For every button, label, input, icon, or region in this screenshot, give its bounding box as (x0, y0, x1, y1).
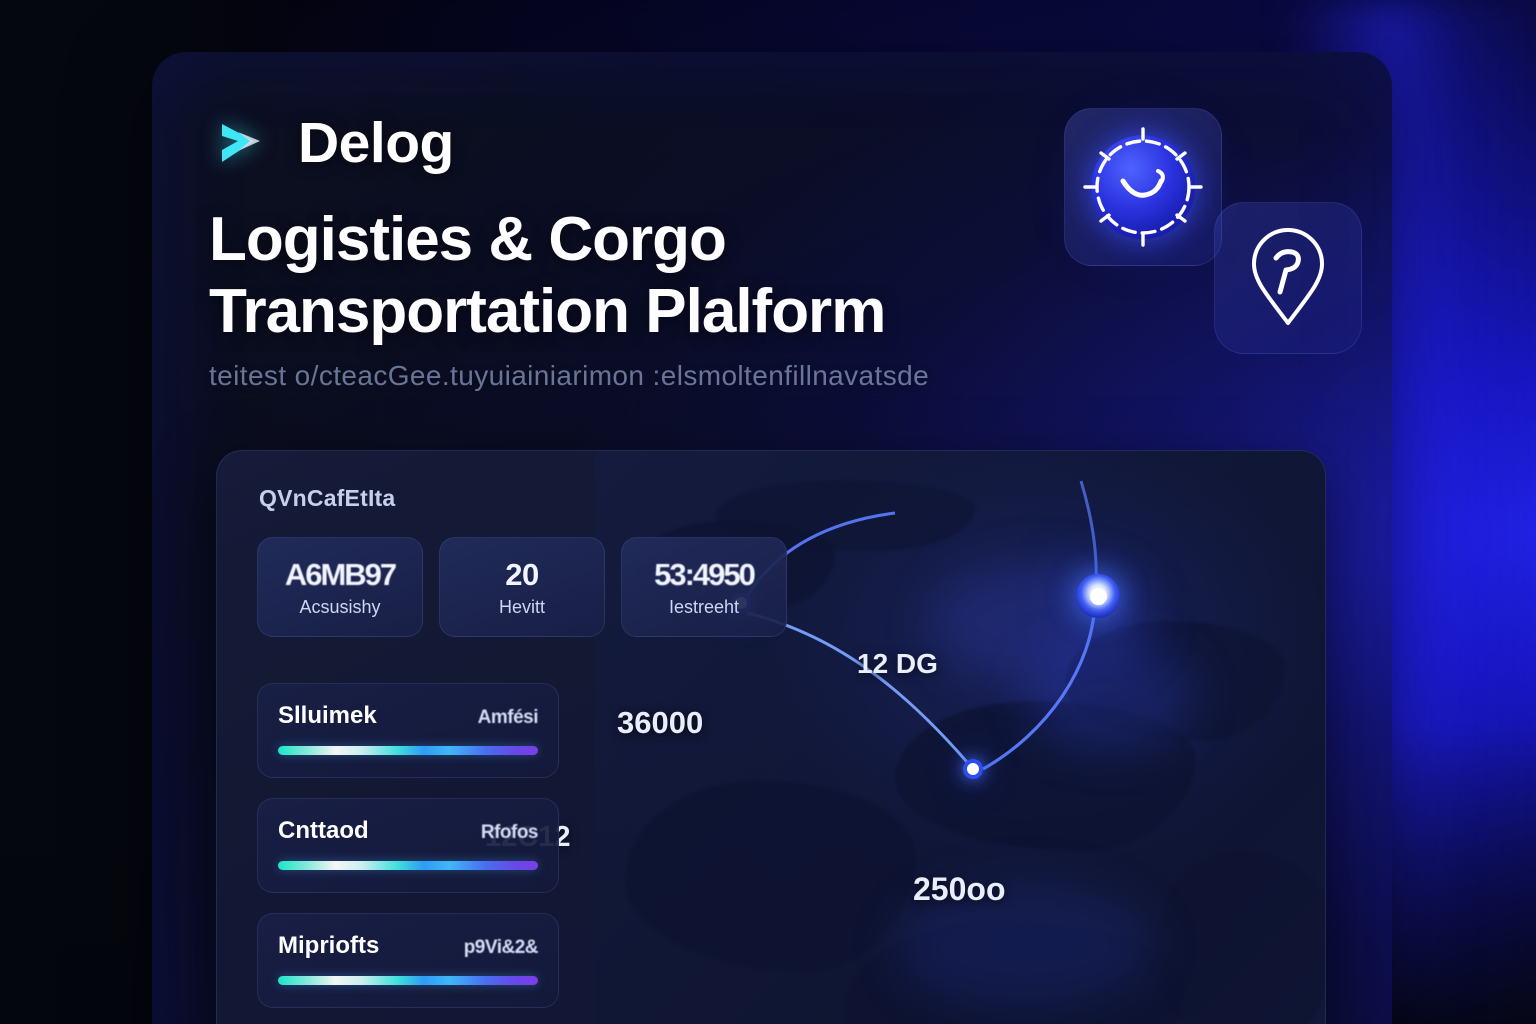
hero-subheadline: teitest o/cteacGee.tuyuiainiarimon :elsm… (209, 360, 1189, 392)
headline-line-2: Transportation Plalform (209, 276, 1109, 348)
map-label-destination: 250oo (913, 871, 1005, 908)
metric-row[interactable]: Cnttaod Rfofos (257, 798, 559, 893)
map-pin-icon (1240, 224, 1336, 333)
stat-card-group: A6MB97 Acsusishy 20 Hevitt 53:4950 Iestr… (257, 537, 787, 637)
metric-label: Slluimek (278, 702, 377, 730)
metric-label: Cnttaod (278, 817, 369, 845)
progress-bar (278, 861, 538, 870)
metric-row-list: Slluimek Amfési Cnttaod Rfofos Mipriofts… (257, 683, 559, 1008)
metric-label: Mipriofts (278, 932, 379, 960)
metric-value: Amfési (478, 707, 538, 729)
globe-network-icon (1091, 135, 1195, 239)
metric-row[interactable]: Mipriofts p9Vi&2& (257, 913, 559, 1008)
chevron-arrow-logo-icon (208, 110, 274, 176)
hero-card: Delog Logisties & Corgo Transportation P… (152, 52, 1392, 1024)
map-label-eta: 12 DG (857, 648, 938, 680)
destination-node[interactable] (963, 759, 983, 779)
progress-bar (278, 746, 538, 755)
page-title: Logisties & Corgo Transportation Plalfor… (209, 204, 1109, 348)
progress-bar (278, 976, 538, 985)
stat-label: Iestreeht (669, 597, 739, 618)
stat-value: A6MB97 (285, 557, 395, 593)
stat-label: Acsusishy (299, 597, 380, 618)
map-label-origin: 36000 (617, 705, 703, 741)
dashboard-title: QVnCafEtIta (259, 485, 395, 512)
stat-card[interactable]: 53:4950 Iestreeht (621, 537, 787, 637)
stat-card[interactable]: A6MB97 Acsusishy (257, 537, 423, 637)
globe-network-tile[interactable] (1064, 108, 1222, 266)
stat-card[interactable]: 20 Hevitt (439, 537, 605, 637)
brand-logo[interactable]: Delog (208, 110, 454, 176)
stat-value: 53:4950 (654, 557, 754, 593)
brand-name: Delog (298, 110, 454, 176)
stat-label: Hevitt (499, 597, 545, 618)
location-pin-tile[interactable] (1214, 202, 1362, 354)
headline-line-1: Logisties & Corgo (209, 205, 726, 274)
dashboard-panel: 36000 12 DG 250oo 12C12 QVnCafEtIta A6MB… (216, 450, 1326, 1024)
active-shipment-pin[interactable] (1076, 574, 1120, 618)
metric-value: p9Vi&2& (464, 937, 538, 959)
metric-row[interactable]: Slluimek Amfési (257, 683, 559, 778)
metric-value: Rfofos (481, 822, 538, 844)
stat-value: 20 (505, 557, 538, 593)
